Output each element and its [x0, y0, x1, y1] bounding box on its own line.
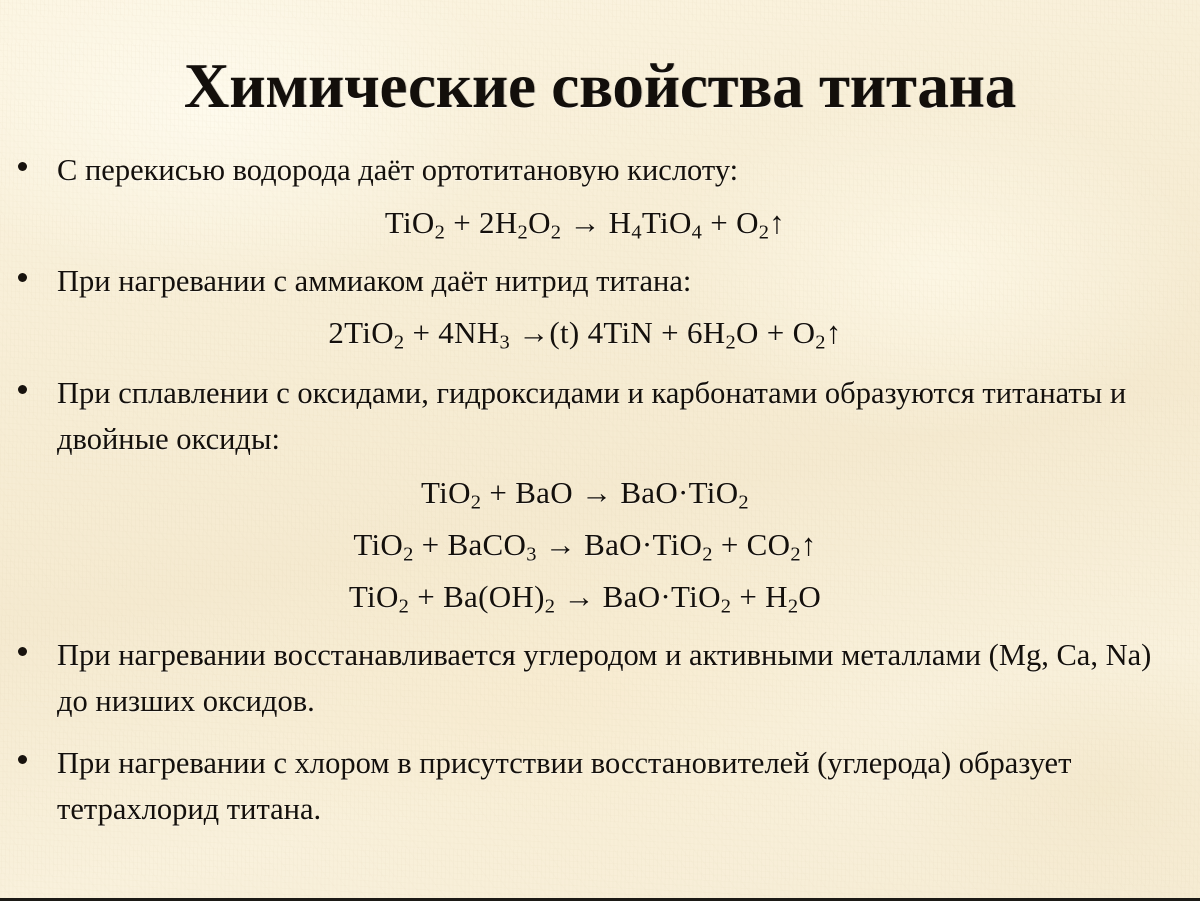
- equation-1: TiO2 + 2H2O2 → H4TiO4 + O2↑: [0, 200, 1200, 245]
- bullet-marker-icon: [18, 647, 27, 656]
- bullet-marker-icon: [18, 755, 27, 764]
- bullet-text-2: При нагревании с аммиаком даёт нитрид ти…: [57, 259, 1160, 305]
- bullet-text-4: При нагревании восстанавливается углерод…: [57, 633, 1160, 724]
- presentation-slide: Химические свойства титана С перекисью в…: [0, 0, 1200, 901]
- bullet-marker-icon: [18, 385, 27, 394]
- bullet-marker-icon: [18, 273, 27, 282]
- bullet-text-3: При сплавлении с оксидами, гидроксидами …: [57, 371, 1160, 462]
- equation-3: TiO2 + BaO → BaO·TiO2: [0, 470, 1200, 515]
- bullet-item-4: При нагревании восстанавливается углерод…: [0, 633, 1200, 724]
- bullet-item-3: При сплавлении с оксидами, гидроксидами …: [0, 371, 1200, 462]
- slide-body-list: С перекисью водорода даёт ортотитановую …: [0, 148, 1200, 832]
- equation-2: 2TiO2 + 4NH3 →(t) 4TiN + 6H2O + O2↑: [0, 310, 1200, 355]
- slide-title: Химические свойства титана: [0, 53, 1200, 120]
- bullet-item-2: При нагревании с аммиаком даёт нитрид ти…: [0, 259, 1200, 305]
- bullet-marker-icon: [18, 162, 27, 171]
- bullet-item-1: С перекисью водорода даёт ортотитановую …: [0, 148, 1200, 194]
- bullet-text-5: При нагревании с хлором в присутствии во…: [57, 741, 1160, 832]
- equation-4: TiO2 + BaCO3 → BaO·TiO2 + CO2↑: [0, 522, 1200, 567]
- slide-content: Химические свойства титана С перекисью в…: [0, 0, 1200, 901]
- equation-5: TiO2 + Ba(OH)2 → BaO·TiO2 + H2O: [0, 574, 1200, 619]
- bullet-item-5: При нагревании с хлором в присутствии во…: [0, 741, 1200, 832]
- bullet-text-1: С перекисью водорода даёт ортотитановую …: [57, 148, 1160, 194]
